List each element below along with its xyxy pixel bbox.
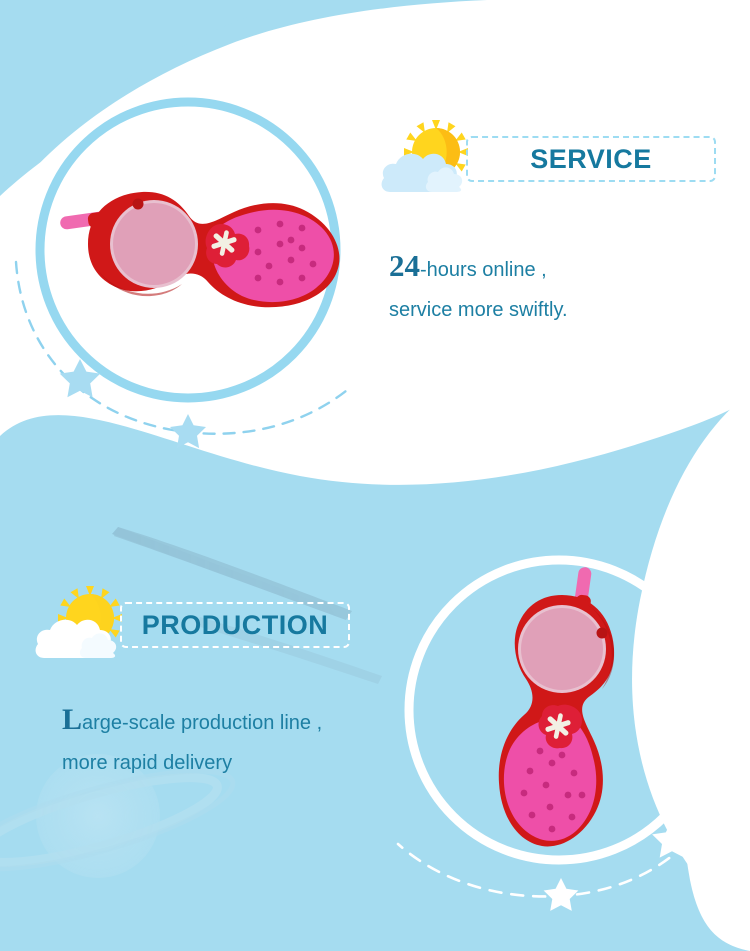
- production-copy: Large-scale production line , more rapid…: [62, 700, 322, 783]
- production-copy-line-2: more rapid delivery: [62, 743, 322, 783]
- service-title-box: SERVICE: [466, 136, 716, 182]
- product-image-service: [58, 178, 348, 318]
- sun-cloud-icon: [380, 120, 478, 198]
- service-copy-line-1: 24-hours online ,: [389, 246, 568, 290]
- production-lead-l: L: [62, 703, 82, 736]
- service-lead-24: 24: [389, 248, 420, 283]
- phone-side-button: [597, 628, 608, 639]
- phone-screen: [113, 203, 195, 285]
- phone-screen: [521, 608, 603, 690]
- service-line-1-rest: -hours online ,: [420, 259, 547, 281]
- service-copy: 24-hours online , service more swiftly.: [389, 246, 568, 330]
- production-header: PRODUCTION: [34, 586, 350, 664]
- phone-side-button: [133, 199, 144, 210]
- service-title: SERVICE: [530, 146, 652, 173]
- production-title: PRODUCTION: [142, 612, 329, 639]
- service-line-2-rest: service more swiftly.: [389, 299, 568, 321]
- production-line-2-rest: more rapid delivery: [62, 752, 232, 774]
- production-copy-line-1: Large-scale production line ,: [62, 700, 322, 743]
- sun-cloud-icon: [34, 586, 132, 664]
- promo-page: SERVICE 24-hours online , service more s…: [0, 0, 750, 951]
- product-image-production: [490, 565, 640, 855]
- production-title-box: PRODUCTION: [120, 602, 350, 648]
- service-copy-line-2: service more swiftly.: [389, 290, 568, 330]
- service-header: SERVICE: [380, 120, 716, 198]
- production-line-1-rest: arge-scale production line ,: [82, 712, 322, 734]
